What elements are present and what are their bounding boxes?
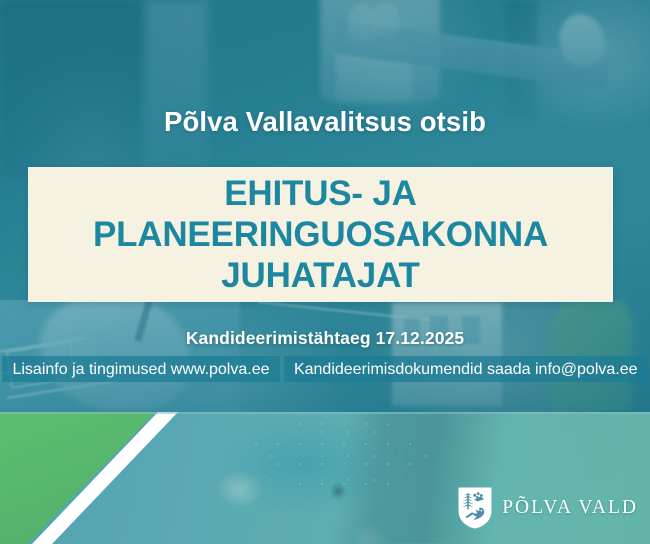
logo-wordmark: PÕLVA VALD <box>502 497 638 519</box>
poster-header-line: Põlva Vallavalitsus otsib <box>0 107 650 137</box>
bottom-band-top-edge <box>0 412 650 414</box>
contact-info-block: Lisainfo ja tingimused www.polva.ee Kand… <box>0 356 650 382</box>
polva-vald-logo: PÕLVA VALD <box>457 486 638 530</box>
bottom-photo-band: PÕLVA VALD <box>0 412 650 544</box>
job-title-box: EHITUS- JA PLANEERINGUOSAKONNA JUHATAJAT <box>28 167 613 302</box>
contact-line-email: Kandideerimisdokumendid saada info@polva… <box>284 356 648 382</box>
job-title-line-1: EHITUS- JA <box>93 173 548 214</box>
application-deadline: Kandideerimistähtaeg 17.12.2025 <box>0 328 650 349</box>
job-advertisement-poster: Põlva Vallavalitsus otsib EHITUS- JA PLA… <box>0 0 650 544</box>
job-title-line-2: PLANEERINGUOSAKONNA <box>93 214 548 255</box>
contact-line-website: Lisainfo ja tingimused www.polva.ee <box>2 356 279 382</box>
job-title-line-3: JUHATAJAT <box>93 255 548 296</box>
job-title: EHITUS- JA PLANEERINGUOSAKONNA JUHATAJAT <box>85 173 556 297</box>
coat-of-arms-shield-icon <box>457 486 493 530</box>
